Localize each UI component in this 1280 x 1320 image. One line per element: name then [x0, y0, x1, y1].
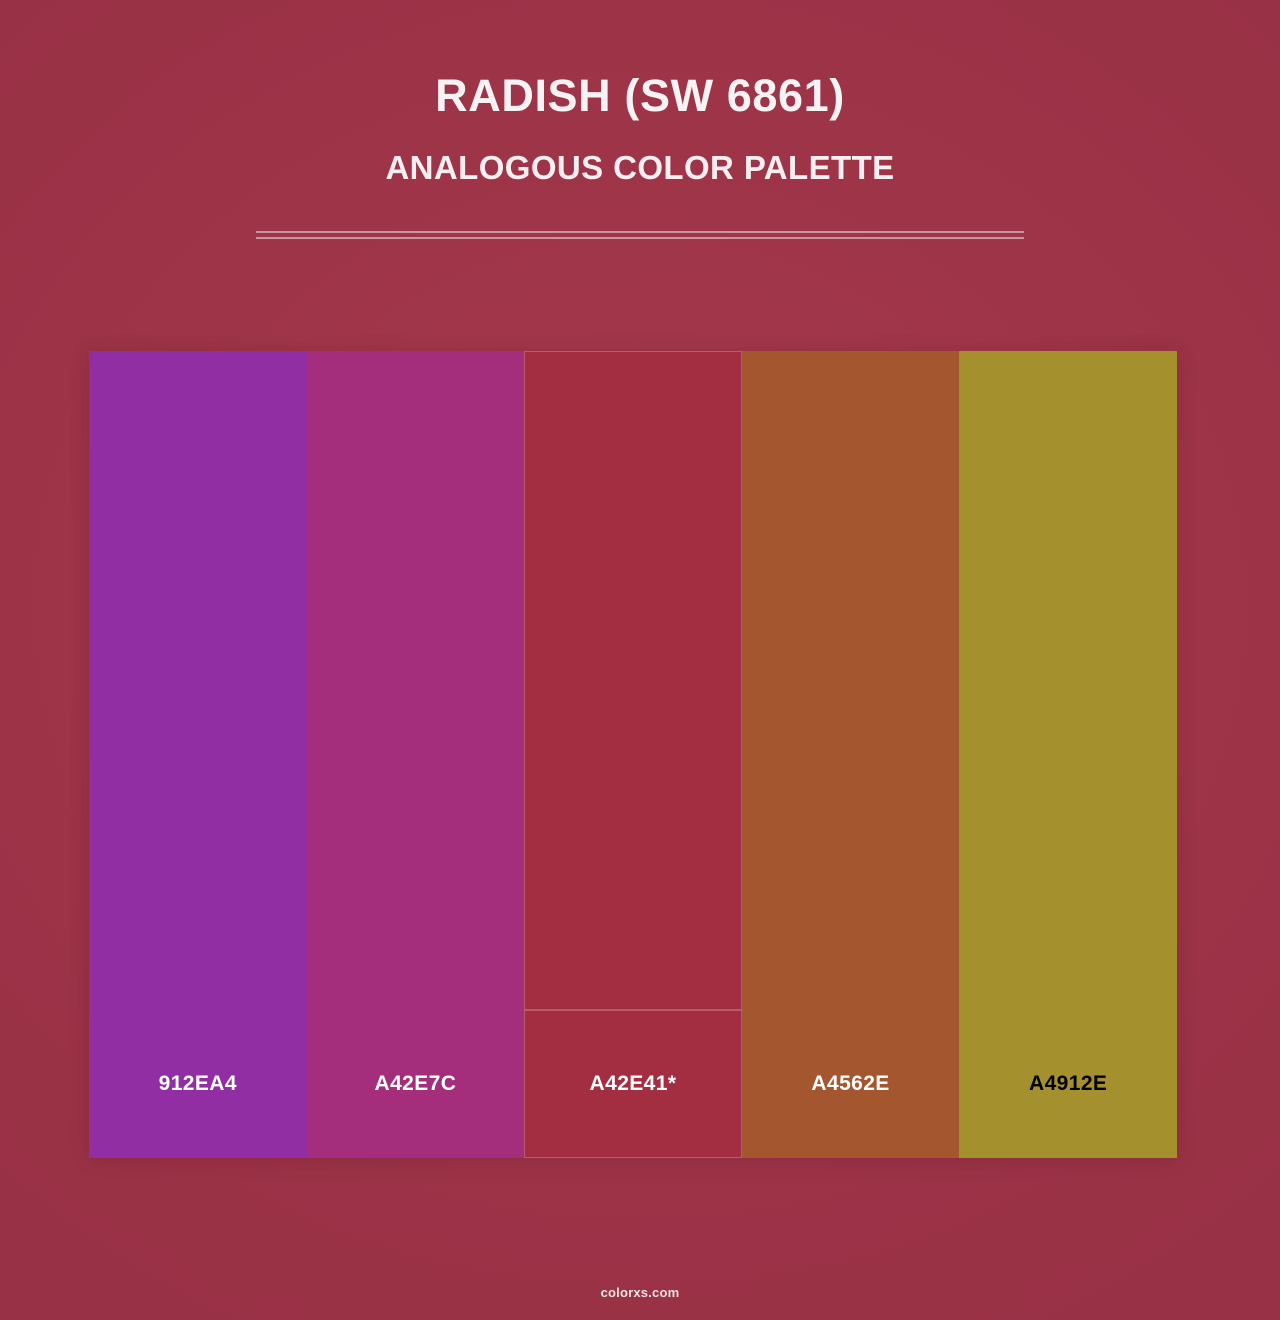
swatch-color-block[interactable]: [89, 351, 307, 1010]
swatch-color-block[interactable]: [524, 351, 742, 1010]
swatch-label-block[interactable]: A4562E: [742, 1010, 960, 1158]
swatch-color-block[interactable]: [959, 351, 1177, 1010]
color-swatch[interactable]: A42E7C: [307, 351, 525, 1158]
swatch-hex-code: A4562E: [811, 1072, 889, 1096]
divider-rule-bottom: [256, 237, 1024, 239]
swatch-hex-code: A42E7C: [375, 1072, 457, 1096]
swatch-hex-code: 912EA4: [159, 1072, 237, 1096]
swatch-color-block[interactable]: [307, 351, 525, 1010]
swatch-label-block[interactable]: A4912E: [959, 1010, 1177, 1158]
header: RADISH (SW 6861) ANALOGOUS COLOR PALETTE: [0, 0, 1280, 186]
divider-rule-top: [256, 231, 1024, 233]
color-swatch[interactable]: A4912E: [959, 351, 1177, 1158]
swatch-label-block[interactable]: 912EA4: [89, 1010, 307, 1158]
site-brand: colorxs.com: [0, 1285, 1280, 1300]
page-title: RADISH (SW 6861): [0, 72, 1280, 119]
palette-page: RADISH (SW 6861) ANALOGOUS COLOR PALETTE…: [0, 0, 1280, 1320]
swatch-label-block[interactable]: A42E41*: [524, 1010, 742, 1158]
color-swatch[interactable]: A4562E: [742, 351, 960, 1158]
swatch-color-block[interactable]: [742, 351, 960, 1010]
page-subtitle: ANALOGOUS COLOR PALETTE: [0, 151, 1280, 186]
color-palette: 912EA4A42E7CA42E41*A4562EA4912E: [89, 351, 1177, 1158]
swatch-hex-code: A4912E: [1029, 1072, 1107, 1096]
swatch-hex-code: A42E41*: [590, 1072, 677, 1096]
header-divider: [256, 231, 1024, 241]
footer: colorxs.com: [0, 1285, 1280, 1300]
swatch-label-block[interactable]: A42E7C: [307, 1010, 525, 1158]
color-swatch[interactable]: 912EA4: [89, 351, 307, 1158]
color-swatch[interactable]: A42E41*: [524, 351, 742, 1158]
